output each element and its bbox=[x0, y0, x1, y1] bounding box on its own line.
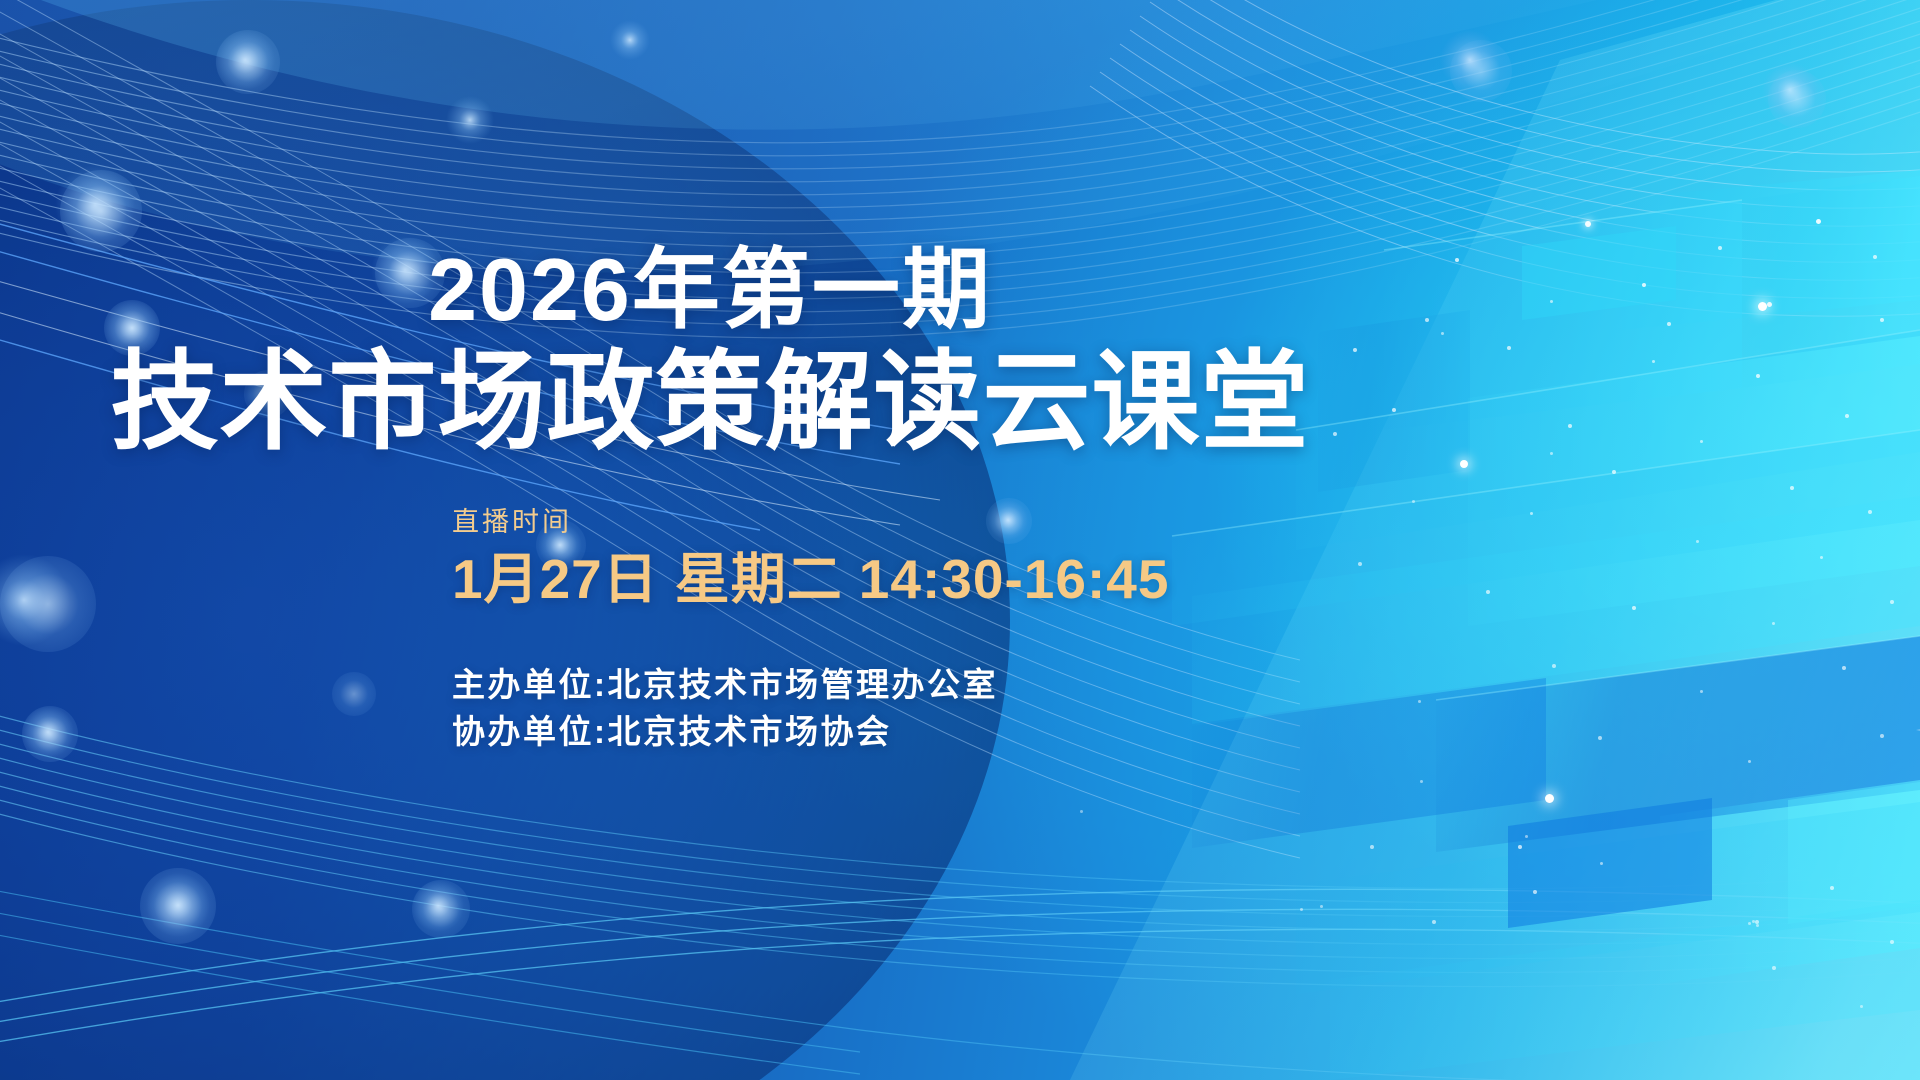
event-title: 2026年第一期 技术市场政策解读云课堂 bbox=[0, 246, 1420, 456]
live-date: 1月27日 bbox=[452, 548, 659, 610]
organizer-block: 主办单位:北京技术市场管理办公室 协办单位:北京技术市场协会 bbox=[452, 662, 998, 756]
event-poster: 2026年第一期 技术市场政策解读云课堂 直播时间 1月27日星期二14:30-… bbox=[0, 0, 1920, 1080]
live-schedule: 直播时间 1月27日星期二14:30-16:45 bbox=[452, 506, 1169, 609]
organizer-host: 主办单位:北京技术市场管理办公室 bbox=[452, 662, 998, 709]
live-time-value: 1月27日星期二14:30-16:45 bbox=[452, 551, 1169, 609]
live-time-label: 直播时间 bbox=[452, 506, 1169, 538]
event-title-line-2: 技术市场政策解读云课堂 bbox=[0, 348, 1420, 456]
live-time-range: 14:30-16:45 bbox=[859, 548, 1170, 610]
live-weekday: 星期二 bbox=[675, 548, 843, 610]
poster-content: 2026年第一期 技术市场政策解读云课堂 直播时间 1月27日星期二14:30-… bbox=[0, 0, 1500, 1080]
organizer-coorganizer: 协办单位:北京技术市场协会 bbox=[452, 709, 998, 756]
event-title-line-1: 2026年第一期 bbox=[0, 246, 1420, 334]
